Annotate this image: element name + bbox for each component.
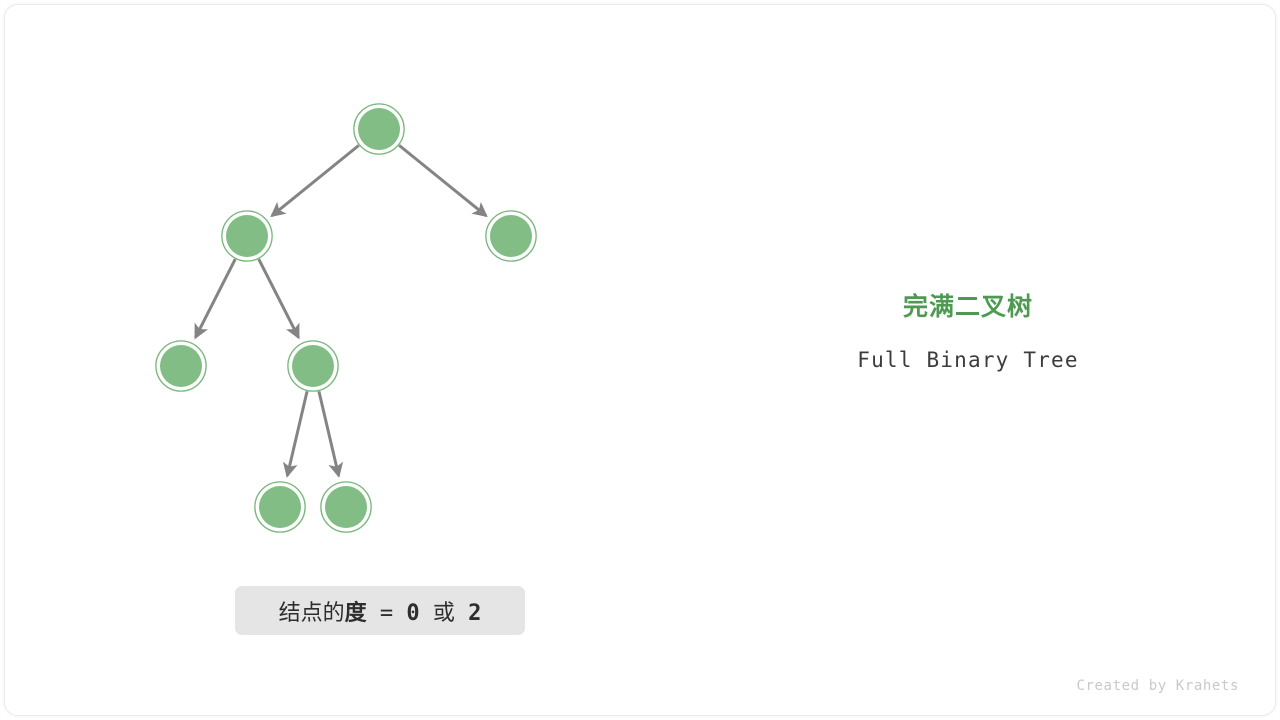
page-title: 完满二叉树 <box>768 292 1168 322</box>
degree-caption-box: 结点的度 = 0 或 2 <box>235 586 525 635</box>
figure-canvas: 完满二叉树 Full Binary Tree 结点的度 = 0 或 2 Crea… <box>0 0 1280 720</box>
credit-text: Created by Krahets <box>1076 678 1239 694</box>
tree-label-block: 完满二叉树 Full Binary Tree <box>768 292 1168 372</box>
caption-segment: 度 <box>345 601 367 626</box>
degree-caption-text: 结点的度 = 0 或 2 <box>279 595 482 627</box>
page-subtitle: Full Binary Tree <box>768 348 1168 372</box>
caption-segment: 2 <box>468 601 481 626</box>
caption-segment: 0 <box>406 601 419 626</box>
caption-segment: 结点的 <box>279 601 345 626</box>
caption-segment: 或 <box>420 601 469 626</box>
caption-segment: = <box>367 601 407 626</box>
